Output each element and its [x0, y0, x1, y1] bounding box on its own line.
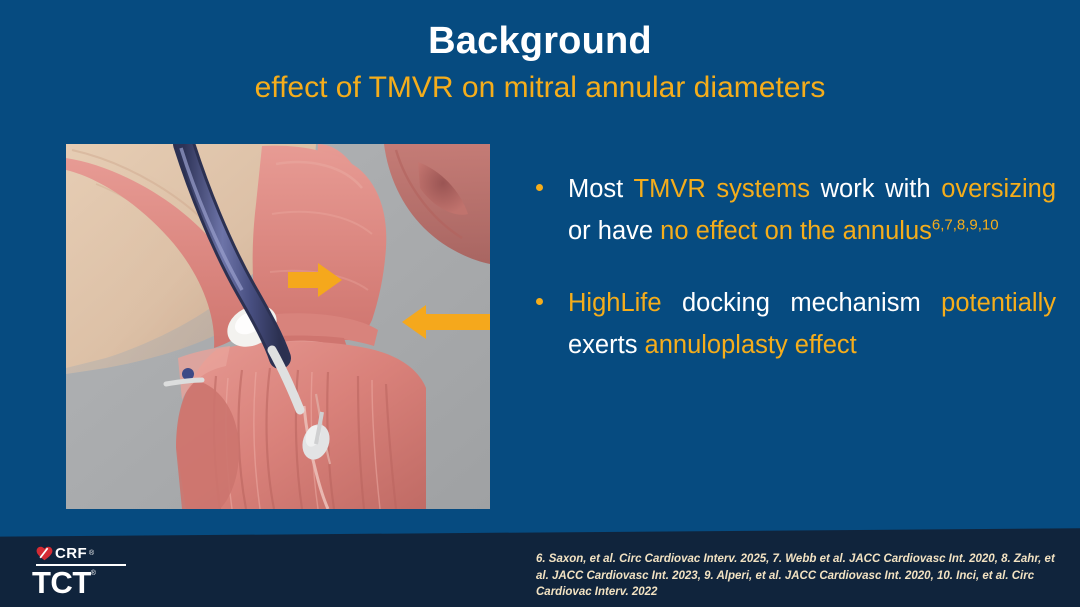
bullet-1-seg-0: Most [568, 175, 634, 203]
cardiac-anatomy-figure [66, 144, 490, 509]
bullet-2-seg-2: potentially [941, 289, 1056, 317]
heart-icon [36, 546, 53, 561]
bullet-1-seg-2: work with [821, 175, 942, 203]
tct-wordmark: TCT [32, 567, 91, 598]
citation-references: 6. Saxon, et al. Circ Cardiovac Interv. … [536, 551, 1056, 601]
page-subtitle: effect of TMVR on mitral annular diamete… [0, 70, 1080, 106]
bullet-marker-icon [536, 298, 543, 305]
crf-registered-mark: ® [89, 550, 94, 557]
bullet-marker-icon [536, 184, 543, 191]
tct-lockup: TCT ® [32, 566, 138, 598]
bullet-2-text: HighLife docking mechanism potentially e… [568, 282, 1056, 366]
list-item: Most TMVR systems work with oversizing o… [528, 168, 1056, 252]
bullet-1-seg-5: no effect on the annulus [660, 217, 932, 245]
bullet-1-references: 6,7,8,9,10 [932, 217, 999, 234]
bullet-list: Most TMVR systems work with oversizing o… [528, 168, 1056, 396]
bullet-1-seg-3: oversizing [941, 175, 1056, 203]
list-item: HighLife docking mechanism potentially e… [528, 282, 1056, 366]
bullet-2-seg-3: exerts [568, 331, 645, 359]
bullet-1-seg-4: or have [568, 217, 660, 245]
heart-illustration-svg [66, 144, 490, 509]
page-title: Background [0, 20, 1080, 64]
bullet-2-seg-1: docking mechanism [682, 289, 941, 317]
bullet-2-seg-4: annuloplasty effect [645, 331, 857, 359]
bullet-1-seg-1: TMVR systems [634, 175, 821, 203]
crf-tct-logo: CRF ® TCT ® [18, 545, 138, 597]
crf-wordmark: CRF [55, 545, 87, 562]
crf-lockup: CRF ® [36, 545, 138, 562]
tct-registered-mark: ® [91, 570, 96, 577]
bullet-1-text: Most TMVR systems work with oversizing o… [568, 168, 1056, 252]
slide-header: Background effect of TMVR on mitral annu… [0, 0, 1080, 106]
bullet-2-seg-0: HighLife [568, 289, 682, 317]
presentation-slide: Background effect of TMVR on mitral annu… [0, 0, 1080, 607]
